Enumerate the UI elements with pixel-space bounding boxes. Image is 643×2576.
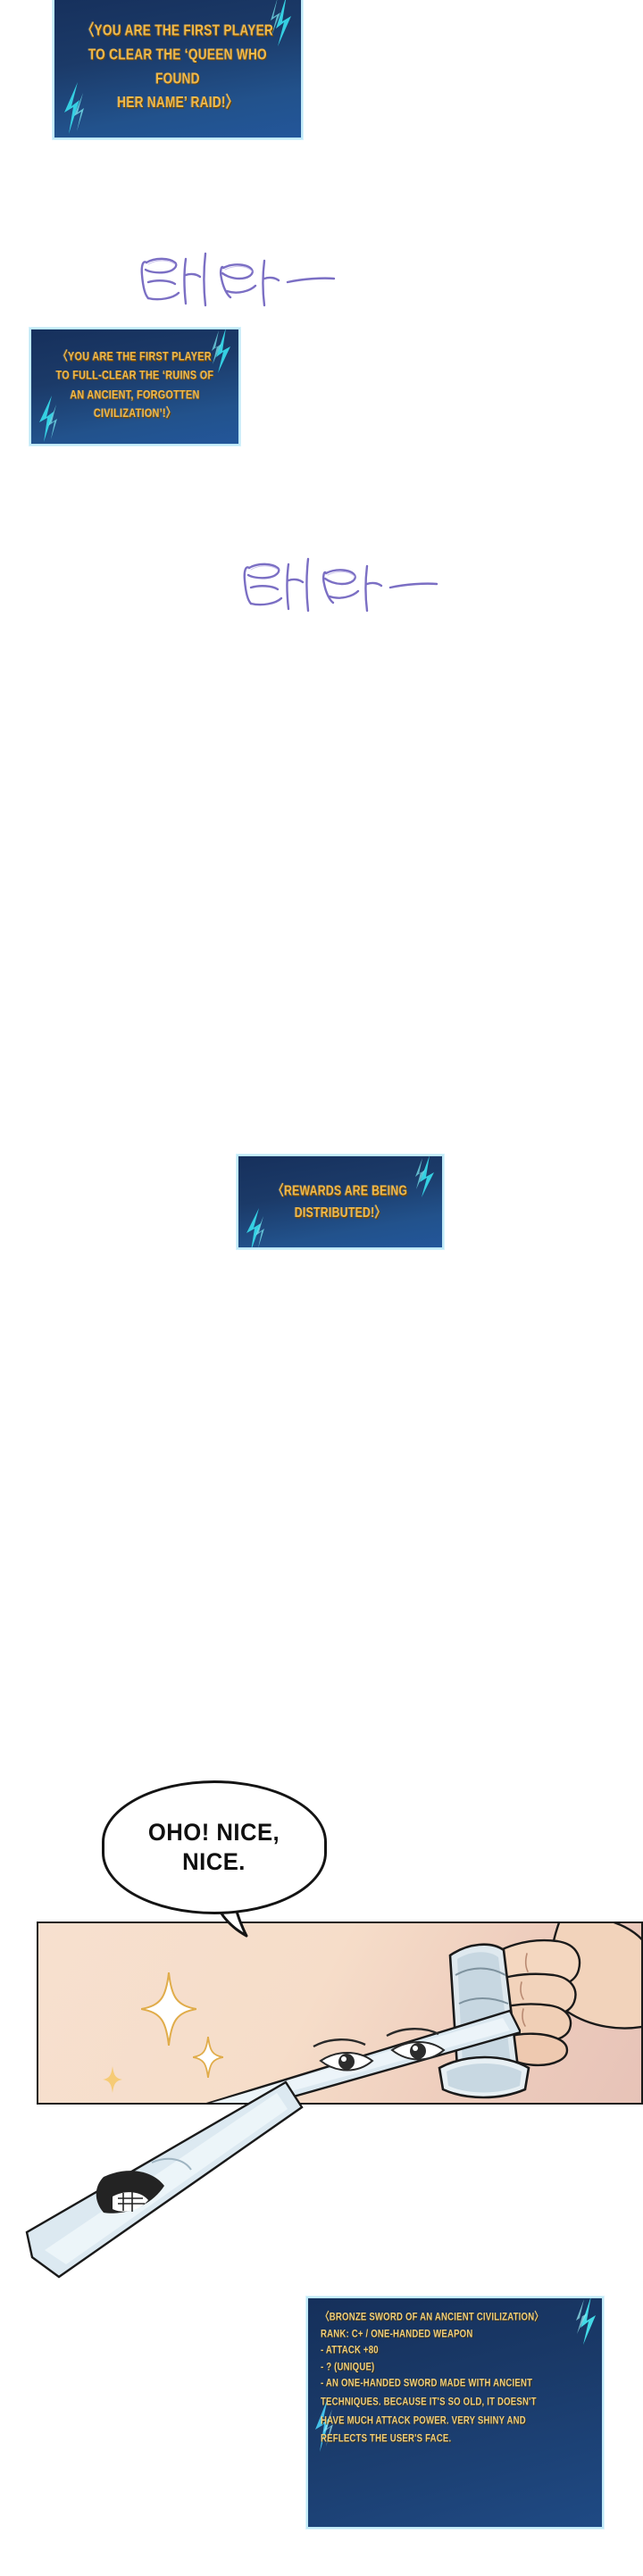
announcement-2-line-2: TO FULL-CLEAR THE ‘RUINS OF xyxy=(56,368,214,387)
sfx-ddeoreong-2 xyxy=(237,554,442,618)
system-announcement-panel-1: 〈YOU ARE THE FIRST PLAYER TO CLEAR THE ‘… xyxy=(53,0,303,139)
sfx-ddeoreong-1 xyxy=(134,248,339,313)
announcement-2-line-1: 〈YOU ARE THE FIRST PLAYER xyxy=(56,348,214,367)
item-desc-line-4: REFLECTS THE USER'S FACE. xyxy=(321,2430,577,2450)
sword-blade-lower xyxy=(18,2080,304,2295)
system-announcement-panel-2: 〈YOU ARE THE FIRST PLAYER TO FULL-CLEAR … xyxy=(29,328,240,446)
speech-line-1: OHO! NICE, xyxy=(148,1818,280,1847)
item-desc-line-1: - AN ONE-HANDED SWORD MADE WITH ANCIENT xyxy=(321,2374,577,2395)
bronze-sword-item-window: 〈BRONZE SWORD OF AN ANCIENT CIVILIZATION… xyxy=(306,2297,604,2529)
system-announcement-panel-3: 〈REWARDS ARE BEING DISTRIBUTED!〉 xyxy=(237,1155,444,1249)
announcement-2-line-4: CIVILIZATION’!〉 xyxy=(56,405,214,424)
announcement-1-line-2: TO CLEAR THE ‘QUEEN WHO FOUND xyxy=(75,43,281,91)
item-description-lines: 〈BRONZE SWORD OF AN ANCIENT CIVILIZATION… xyxy=(308,2298,602,2457)
sword-artwork-panel xyxy=(37,1922,643,2105)
speech-bubble-text: OHO! NICE, NICE. xyxy=(148,1818,280,1877)
announcement-1-line-1: 〈YOU ARE THE FIRST PLAYER xyxy=(75,19,281,43)
announcement-2-text: 〈YOU ARE THE FIRST PLAYER TO FULL-CLEAR … xyxy=(45,348,226,424)
webtoon-page: 〈YOU ARE THE FIRST PLAYER TO CLEAR THE ‘… xyxy=(0,0,643,2576)
speech-line-2: NICE. xyxy=(148,1847,280,1877)
announcement-1-text: 〈YOU ARE THE FIRST PLAYER TO CLEAR THE ‘… xyxy=(63,19,293,115)
oho-nice-speech-bubble: OHO! NICE, NICE. xyxy=(102,1780,327,1914)
announcement-3-text: 〈REWARDS ARE BEING DISTRIBUTED!〉 xyxy=(262,1180,420,1223)
announcement-2-line-3: AN ANCIENT, FORGOTTEN xyxy=(56,387,214,405)
announcement-3-line-2: DISTRIBUTED!〉 xyxy=(273,1202,408,1223)
announcement-3-line-1: 〈REWARDS ARE BEING xyxy=(273,1180,408,1202)
announcement-1-line-3: HER NAME’ RAID!〉 xyxy=(75,91,281,115)
item-desc-line-2: TECHNIQUES. BECAUSE IT'S SO OLD, IT DOES… xyxy=(321,2393,577,2413)
